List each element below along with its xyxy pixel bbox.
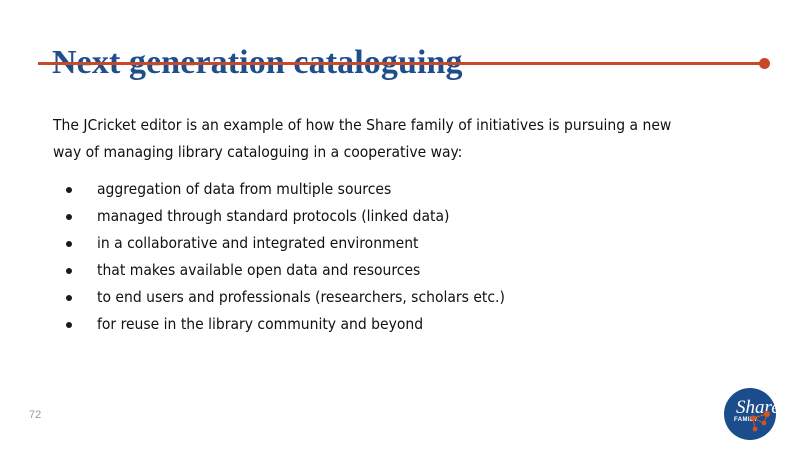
share-family-logo-icon: Share FAMILY xyxy=(724,388,776,440)
list-item-label: in a collaborative and integrated enviro… xyxy=(97,234,419,252)
list-item: to end users and professionals (research… xyxy=(64,284,704,311)
bullet-dot-icon xyxy=(66,322,72,328)
list-item: aggregation of data from multiple source… xyxy=(64,176,704,203)
list-item: in a collaborative and integrated enviro… xyxy=(64,230,704,257)
title-divider-end-dot xyxy=(759,58,770,69)
bullet-list: aggregation of data from multiple source… xyxy=(64,176,704,338)
bullet-dot-icon xyxy=(66,241,72,247)
list-item-label: to end users and professionals (research… xyxy=(97,288,505,306)
list-item-label: aggregation of data from multiple source… xyxy=(97,180,391,198)
list-item-label: for reuse in the library community and b… xyxy=(97,315,423,333)
list-item-label: that makes available open data and resou… xyxy=(97,261,420,279)
bullet-dot-icon xyxy=(66,214,72,220)
bullet-dot-icon xyxy=(66,295,72,301)
title-divider-rule xyxy=(38,62,765,65)
slide: Next generation cataloguing The JCricket… xyxy=(0,0,800,450)
share-family-logo: Share FAMILY xyxy=(724,388,776,440)
list-item: that makes available open data and resou… xyxy=(64,257,704,284)
list-item-label: managed through standard protocols (link… xyxy=(97,207,449,225)
intro-paragraph: The JCricket editor is an example of how… xyxy=(53,112,693,166)
bullet-dot-icon xyxy=(66,268,72,274)
bullet-dot-icon xyxy=(66,187,72,193)
logo-wordmark: Share xyxy=(736,397,776,418)
list-item: for reuse in the library community and b… xyxy=(64,311,704,338)
page-number: 72 xyxy=(29,409,41,421)
list-item: managed through standard protocols (link… xyxy=(64,203,704,230)
